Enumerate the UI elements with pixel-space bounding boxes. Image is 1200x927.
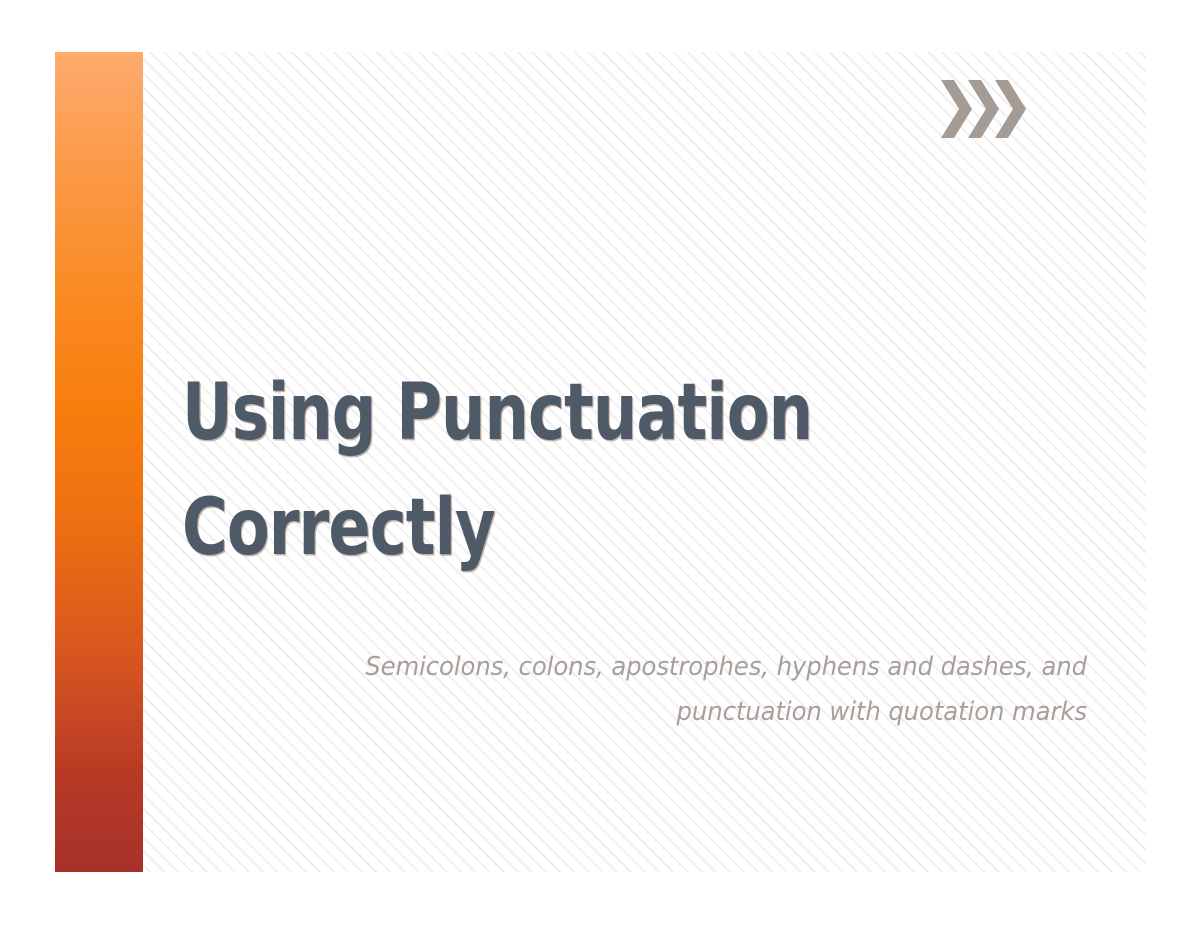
slide: Using Punctuation Correctly Semicolons, … <box>0 0 1200 927</box>
subtitle-block: Semicolons, colons, apostrophes, hyphens… <box>215 645 1087 734</box>
subtitle-line-1: Semicolons, colons, apostrophes, hyphens… <box>254 645 1087 690</box>
triple-chevron-right-icon <box>941 80 1027 138</box>
page-title: Using Punctuation Correctly <box>182 356 846 585</box>
subtitle-line-2: punctuation with quotation marks <box>254 690 1087 735</box>
title-line-2: Correctly <box>182 471 846 586</box>
title-block: Using Punctuation Correctly <box>182 356 1012 585</box>
title-line-1: Using Punctuation <box>182 356 846 471</box>
accent-bar <box>55 52 143 872</box>
page-subtitle: Semicolons, colons, apostrophes, hyphens… <box>254 645 1087 734</box>
